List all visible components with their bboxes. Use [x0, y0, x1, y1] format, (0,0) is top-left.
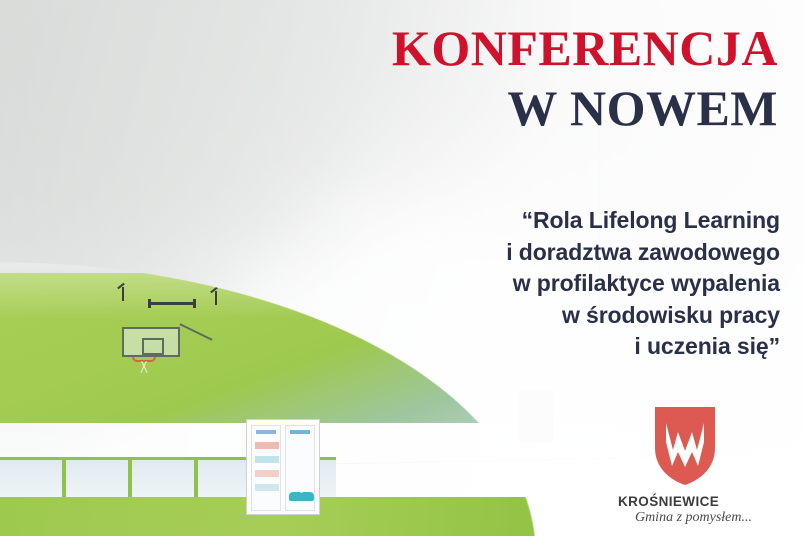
municipality-name: KROŚNIEWICE: [610, 494, 760, 509]
quote-line-4: w środowisku pracy: [350, 300, 780, 332]
conference-poster: KONFERENCJA W NOWEM “Rola Lifelong Learn…: [0, 0, 804, 536]
quote-line-5: i uczenia się”: [350, 331, 780, 363]
municipality-logo: KROŚNIEWICE Gmina z pomysłem...: [610, 404, 760, 526]
quote-line-2: i doradztwa zawodowego: [350, 237, 780, 269]
coat-of-arms-shield-icon: [610, 404, 760, 488]
headline-line-2: W NOWEM: [298, 82, 778, 135]
poster-headline: KONFERENCJA W NOWEM: [298, 22, 778, 135]
municipality-tagline: Gmina z pomysłem...: [610, 510, 760, 526]
quote-line-3: w profilaktyce wypalenia: [350, 268, 780, 300]
conference-theme-quote: “Rola Lifelong Learning i doradztwa zawo…: [350, 205, 780, 363]
quote-line-1: “Rola Lifelong Learning: [350, 205, 780, 237]
headline-line-1: KONFERENCJA: [298, 22, 778, 74]
